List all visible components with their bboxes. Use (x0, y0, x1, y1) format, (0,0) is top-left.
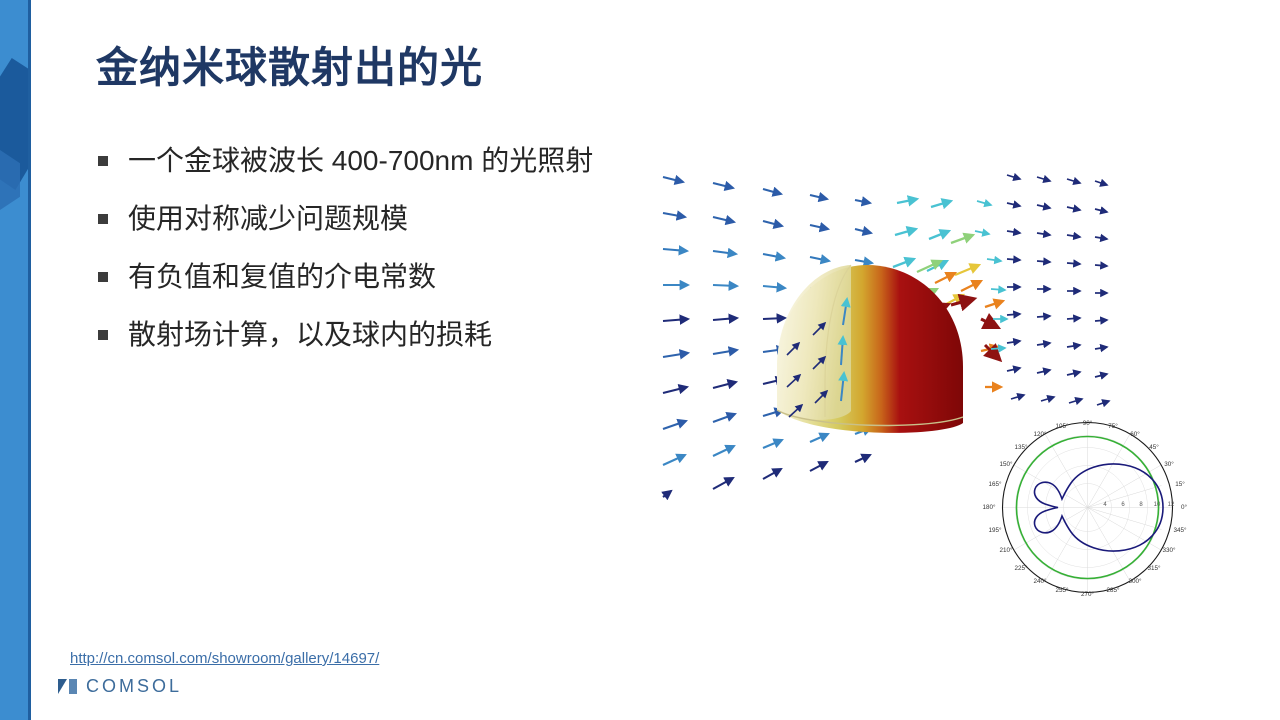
transmitted-field-arrows-cyan (975, 201, 1007, 349)
svg-text:10: 10 (1154, 502, 1161, 508)
list-item-label: 使用对称减少问题规模 (128, 198, 408, 240)
svg-text:285°: 285° (1106, 586, 1120, 594)
transmitted-field-arrows (1007, 175, 1109, 405)
svg-text:135°: 135° (1014, 443, 1028, 451)
far-field-polar-plot: 4 6 8 10 12 0° 15° 30° 45° 60° 75° 90° 1… (965, 385, 1210, 630)
comsol-logo: COMSOL (58, 675, 182, 697)
source-link[interactable]: http://cn.comsol.com/showroom/gallery/14… (70, 650, 379, 667)
list-item-label: 有负值和复值的介电常数 (128, 256, 436, 298)
svg-text:90°: 90° (1083, 419, 1093, 427)
svg-text:315°: 315° (1147, 564, 1161, 572)
slide: 金纳米球散射出的光 一个金球被波长 400-700nm 的光照射 使用对称减少问… (0, 0, 1280, 720)
comsol-logo-text: COMSOL (86, 676, 182, 697)
list-item-label: 一个金球被波长 400-700nm 的光照射 (128, 140, 593, 182)
svg-text:45°: 45° (1149, 443, 1159, 451)
bullet-list: 一个金球被波长 400-700nm 的光照射 使用对称减少问题规模 有负值和复值… (98, 140, 698, 372)
list-item: 有负值和复值的介电常数 (98, 256, 698, 298)
svg-text:6: 6 (1121, 502, 1125, 508)
svg-text:330°: 330° (1162, 546, 1176, 554)
square-bullet-icon (98, 214, 108, 224)
left-accent-band-edge (28, 0, 31, 720)
page-title: 金纳米球散射出的光 (96, 34, 483, 95)
svg-text:120°: 120° (1033, 430, 1047, 438)
svg-text:270°: 270° (1081, 590, 1095, 598)
svg-text:165°: 165° (988, 480, 1002, 488)
polar-plot-svg: 4 6 8 10 12 0° 15° 30° 45° 60° 75° 90° 1… (965, 385, 1210, 630)
svg-text:15°: 15° (1175, 480, 1185, 488)
square-bullet-icon (98, 330, 108, 340)
svg-text:4: 4 (1103, 502, 1107, 508)
svg-text:180°: 180° (982, 503, 996, 511)
svg-text:300°: 300° (1128, 577, 1142, 585)
list-item: 使用对称减少问题规模 (98, 198, 698, 240)
list-item-label: 散射场计算，以及球内的损耗 (128, 314, 492, 356)
list-item: 一个金球被波长 400-700nm 的光照射 (98, 140, 698, 182)
square-bullet-icon (98, 272, 108, 282)
svg-text:240°: 240° (1033, 577, 1047, 585)
svg-text:225°: 225° (1014, 564, 1028, 572)
svg-text:8: 8 (1139, 502, 1143, 508)
square-bullet-icon (98, 156, 108, 166)
svg-text:30°: 30° (1164, 460, 1174, 468)
svg-text:0°: 0° (1181, 503, 1188, 511)
svg-text:210°: 210° (999, 546, 1013, 554)
svg-text:150°: 150° (999, 460, 1013, 468)
svg-text:195°: 195° (988, 526, 1002, 534)
svg-text:255°: 255° (1055, 586, 1069, 594)
list-item: 散射场计算，以及球内的损耗 (98, 314, 698, 356)
svg-text:60°: 60° (1130, 430, 1140, 438)
radial-tick-labels: 4 6 8 10 12 (1103, 502, 1175, 508)
svg-text:345°: 345° (1173, 526, 1187, 534)
angle-tick-labels: 0° 15° 30° 45° 60° 75° 90° 105° 120° 135… (982, 419, 1187, 598)
svg-text:12: 12 (1168, 502, 1175, 508)
comsol-logo-icon (58, 679, 80, 694)
svg-text:105°: 105° (1055, 422, 1069, 430)
svg-text:75°: 75° (1108, 422, 1118, 430)
